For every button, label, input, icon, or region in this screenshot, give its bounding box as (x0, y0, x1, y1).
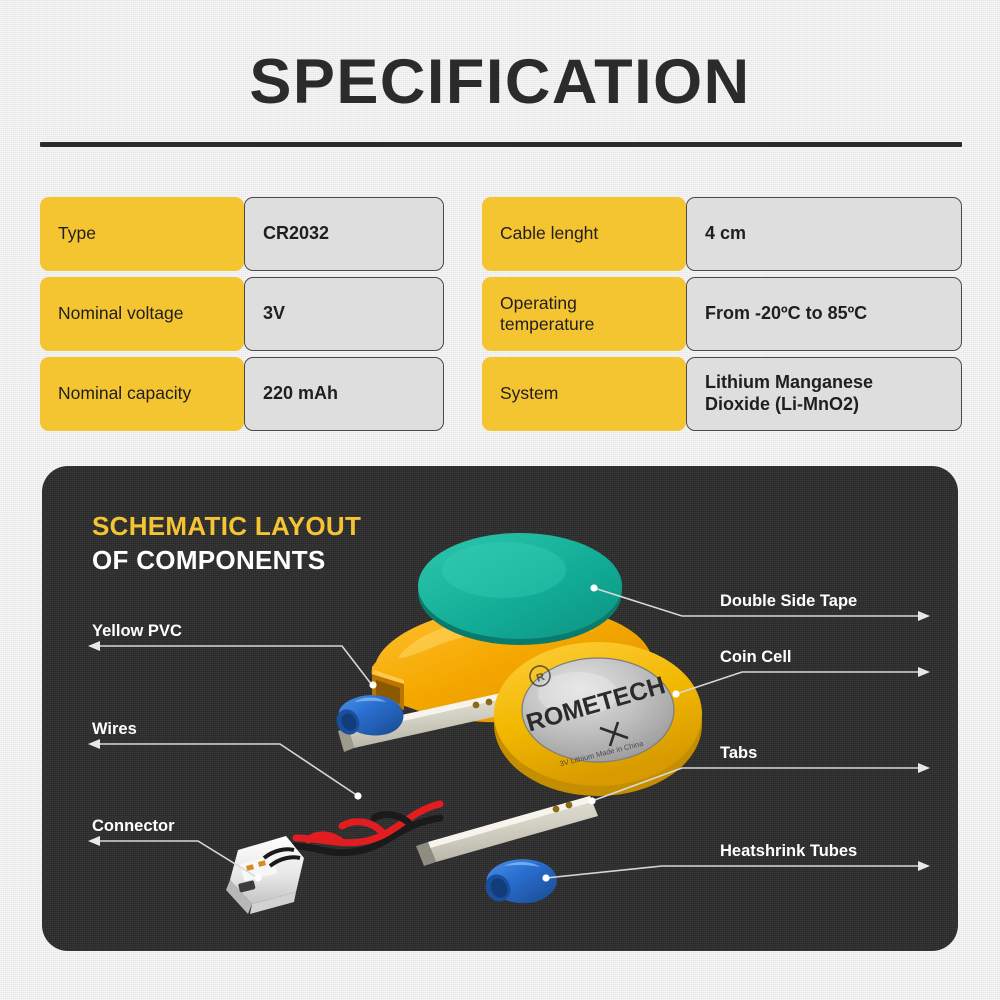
spec-key-nominal-voltage: Nominal voltage (40, 277, 244, 351)
callout-label-heatshrink-tubes: Heatshrink Tubes (720, 842, 857, 861)
spec-key-system: System (482, 357, 686, 431)
callout-label-yellow-pvc: Yellow PVC (92, 622, 182, 641)
tab-lower-part (416, 796, 598, 866)
connector-part (226, 836, 304, 914)
callout-label-connector: Connector (92, 817, 175, 836)
coin-cell-part: ROMETECH 3V Lithium Made in China R (494, 642, 702, 796)
callout-label-wires: Wires (92, 720, 137, 739)
schematic-heading-line2: OF COMPONENTS (92, 544, 361, 578)
table-column-gap (444, 277, 482, 351)
spec-value-nominal-voltage: 3V (244, 277, 444, 351)
spec-key-operating-temperature: Operating temperature (482, 277, 686, 351)
page-title: SPECIFICATION (0, 46, 1000, 118)
callout-label-coin-cell: Coin Cell (720, 648, 792, 667)
double-side-tape-part (418, 533, 622, 645)
spec-key-nominal-capacity: Nominal capacity (40, 357, 244, 431)
spec-value-operating-temperature: From -20ºC to 85ºC (686, 277, 962, 351)
spec-value-nominal-capacity: 220 mAh (244, 357, 444, 431)
spec-value-type: CR2032 (244, 197, 444, 271)
spec-key-type: Type (40, 197, 244, 271)
specification-page: SPECIFICATION Type CR2032 Cable lenght 4… (0, 0, 1000, 1000)
spec-value-system: Lithium Manganese Dioxide (Li-MnO2) (686, 357, 962, 431)
header-divider (40, 142, 962, 147)
spec-value-cable-length: 4 cm (686, 197, 962, 271)
schematic-layout-panel: ROMETECH 3V Lithium Made in China R (42, 466, 958, 951)
specification-table: Type CR2032 Cable lenght 4 cm Nominal vo… (40, 197, 962, 431)
schematic-heading-line1: SCHEMATIC LAYOUT (92, 510, 361, 544)
callout-label-tabs: Tabs (720, 744, 757, 763)
table-column-gap (444, 197, 482, 271)
schematic-heading: SCHEMATIC LAYOUT OF COMPONENTS (92, 510, 361, 578)
spec-key-cable-length: Cable lenght (482, 197, 686, 271)
table-column-gap (444, 357, 482, 431)
heatshrink-lower-part (481, 859, 557, 906)
callout-label-double-side-tape: Double Side Tape (720, 592, 857, 611)
